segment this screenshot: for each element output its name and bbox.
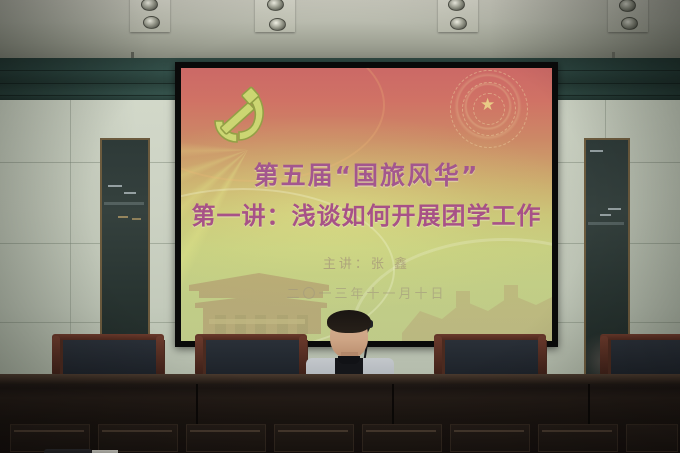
desk-highlight bbox=[542, 430, 612, 432]
desk-highlight bbox=[190, 430, 260, 432]
presidium-desk bbox=[0, 374, 680, 453]
desk-panel bbox=[186, 424, 266, 452]
glass-reflection bbox=[590, 150, 603, 152]
desk-equipment bbox=[44, 449, 92, 453]
glass-reflection bbox=[132, 218, 141, 220]
projection-screen-frame: ★ bbox=[175, 62, 558, 347]
glass-reflection bbox=[608, 208, 621, 210]
glass-reflection bbox=[588, 222, 624, 225]
chair-back bbox=[607, 340, 680, 376]
projection-screen: ★ bbox=[181, 68, 552, 341]
desk-highlight bbox=[102, 430, 172, 432]
desk-surface bbox=[0, 374, 680, 384]
lecture-hall-photo: ★ bbox=[0, 0, 680, 453]
glass-reflection bbox=[104, 202, 144, 205]
desk-panel bbox=[450, 424, 530, 452]
desk-highlight bbox=[366, 430, 436, 432]
chair-post bbox=[538, 336, 546, 376]
desk-panel bbox=[626, 424, 678, 452]
chair-back bbox=[202, 340, 308, 376]
presenter-hair bbox=[327, 310, 371, 333]
presenter-collar bbox=[338, 356, 360, 364]
chair-back bbox=[59, 340, 165, 376]
ceiling bbox=[0, 0, 680, 62]
desk-panel bbox=[362, 424, 442, 452]
desk-panel bbox=[10, 424, 90, 452]
screen-light-veil bbox=[181, 68, 552, 341]
desk-panel bbox=[98, 424, 178, 452]
chair-post bbox=[156, 336, 164, 376]
desk-panel bbox=[538, 424, 618, 452]
ceiling-shading bbox=[0, 0, 680, 62]
chair-4 bbox=[600, 334, 680, 376]
chair-2 bbox=[195, 334, 307, 376]
chair-post bbox=[600, 336, 608, 376]
glass-reflection bbox=[600, 214, 611, 216]
chair-3 bbox=[434, 334, 546, 376]
desk-highlight bbox=[14, 430, 84, 432]
desk-highlight bbox=[454, 430, 524, 432]
chair-post bbox=[195, 336, 203, 376]
glass-reflection bbox=[118, 216, 128, 218]
chair-post bbox=[52, 336, 60, 376]
seated-presenter bbox=[302, 310, 398, 382]
desk-highlight bbox=[278, 430, 348, 432]
chair-1 bbox=[52, 334, 164, 376]
chair-back bbox=[441, 340, 547, 376]
glass-reflection bbox=[108, 185, 122, 187]
desk-panel bbox=[274, 424, 354, 452]
chair-post bbox=[434, 336, 442, 376]
glass-reflection bbox=[124, 192, 136, 194]
